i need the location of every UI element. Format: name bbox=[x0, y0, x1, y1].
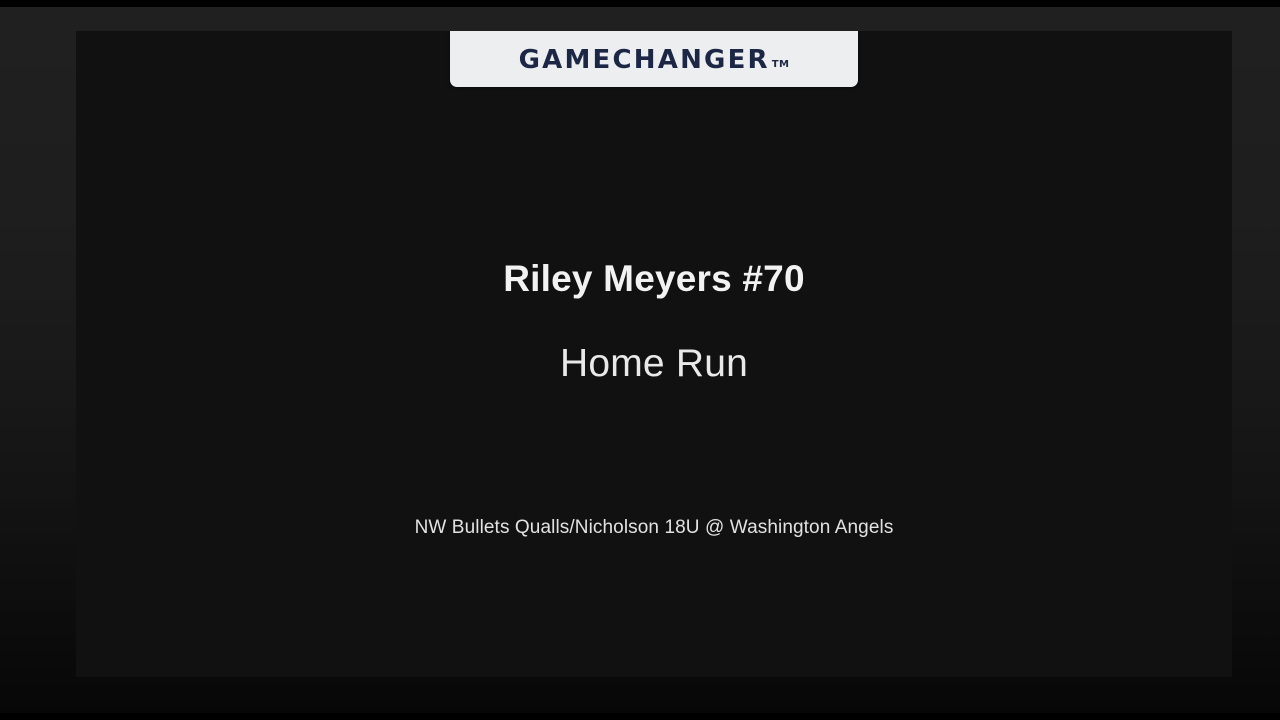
letterbox-top-bar bbox=[0, 0, 1280, 7]
player-name-and-number: Riley Meyers #70 bbox=[76, 260, 1232, 297]
video-panel[interactable]: GAMECHANGER TM Riley Meyers #70 Home Run… bbox=[76, 31, 1232, 677]
highlight-card-screen: GAMECHANGER TM Riley Meyers #70 Home Run… bbox=[0, 0, 1280, 720]
game-matchup-label: NW Bullets Qualls/Nicholson 18U @ Washin… bbox=[76, 518, 1232, 537]
event-type-label: Home Run bbox=[76, 344, 1232, 383]
card-content: Riley Meyers #70 Home Run NW Bullets Qua… bbox=[76, 31, 1232, 677]
letterbox-bottom-bar bbox=[0, 713, 1280, 720]
